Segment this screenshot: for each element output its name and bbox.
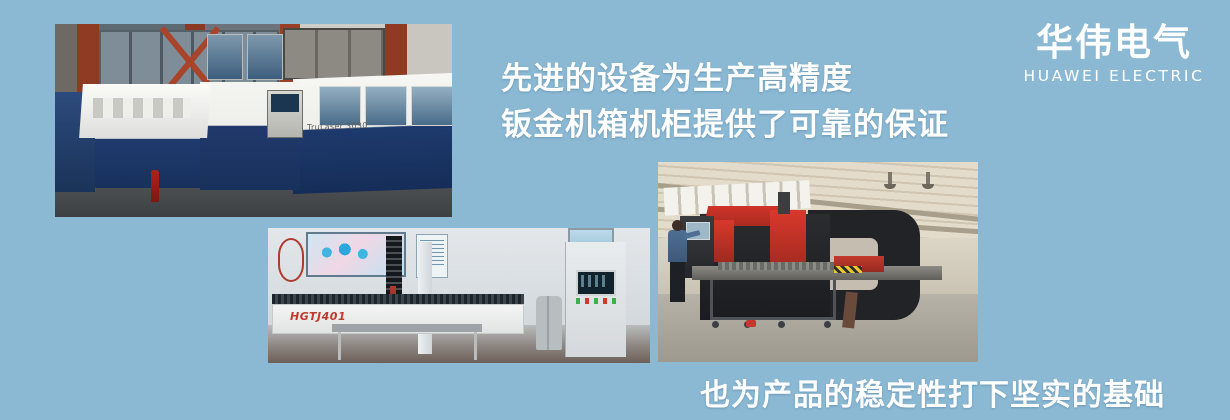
coiled-hose xyxy=(278,238,304,282)
machine-model-label: HGTJ401 xyxy=(290,310,346,323)
work-bench xyxy=(332,324,482,360)
factory-window-secondary xyxy=(283,28,385,80)
ceiling-lamp-icon xyxy=(926,172,930,184)
floor-equipment xyxy=(746,320,756,327)
warning-stripe xyxy=(834,266,862,273)
worker-legs xyxy=(670,262,685,302)
cabinet-display xyxy=(576,270,616,296)
cabin-window xyxy=(207,34,243,80)
enclosure-panel xyxy=(365,86,407,126)
enclosure-panel xyxy=(411,86,452,126)
logo-english-name: HUAWEI ELECTRIC xyxy=(1014,66,1214,86)
ceiling-lamp-icon xyxy=(888,172,892,184)
photo-cnc-turret-punch-press xyxy=(658,162,978,362)
cutting-table-slats xyxy=(272,294,524,304)
headline-line-2: 钣金机箱机柜提供了可靠的保证 xyxy=(501,102,949,148)
hood-vent-slots xyxy=(93,98,191,118)
photo-cnc-cutting-machine: HGTJ401 xyxy=(268,228,650,363)
roller-cart xyxy=(710,280,836,320)
machine-side-panel xyxy=(712,220,734,262)
cart-caster xyxy=(824,321,831,328)
headline-line-1: 先进的设备为生产高精度 xyxy=(501,61,853,97)
headline: 先进的设备为生产高精度 钣金机箱机柜提供了可靠的保证 xyxy=(501,56,949,148)
cart-caster xyxy=(712,321,719,328)
punch-head xyxy=(770,210,806,268)
enclosure-panel xyxy=(319,86,361,126)
fire-extinguisher xyxy=(151,170,159,202)
photo-laser-cutting-machine: TruLaser 3030 xyxy=(55,24,452,217)
brand-logo: 华伟电气 HUAWEI ELECTRIC xyxy=(1014,22,1214,86)
control-console xyxy=(267,90,303,138)
gas-cylinders xyxy=(536,296,562,350)
exhaust-stack xyxy=(778,192,790,214)
cart-caster xyxy=(778,321,785,328)
subline: 也为产品的稳定性打下坚实的基础 xyxy=(700,370,1165,414)
cabin-window xyxy=(247,34,283,80)
logo-chinese-name: 华伟电气 xyxy=(1014,22,1214,64)
sheet-metal xyxy=(718,262,848,270)
worker-head xyxy=(672,220,683,231)
equipment-banner: TruLaser 3030 HGTJ401 xyxy=(0,0,1230,420)
cabinet-button-row xyxy=(576,298,620,304)
